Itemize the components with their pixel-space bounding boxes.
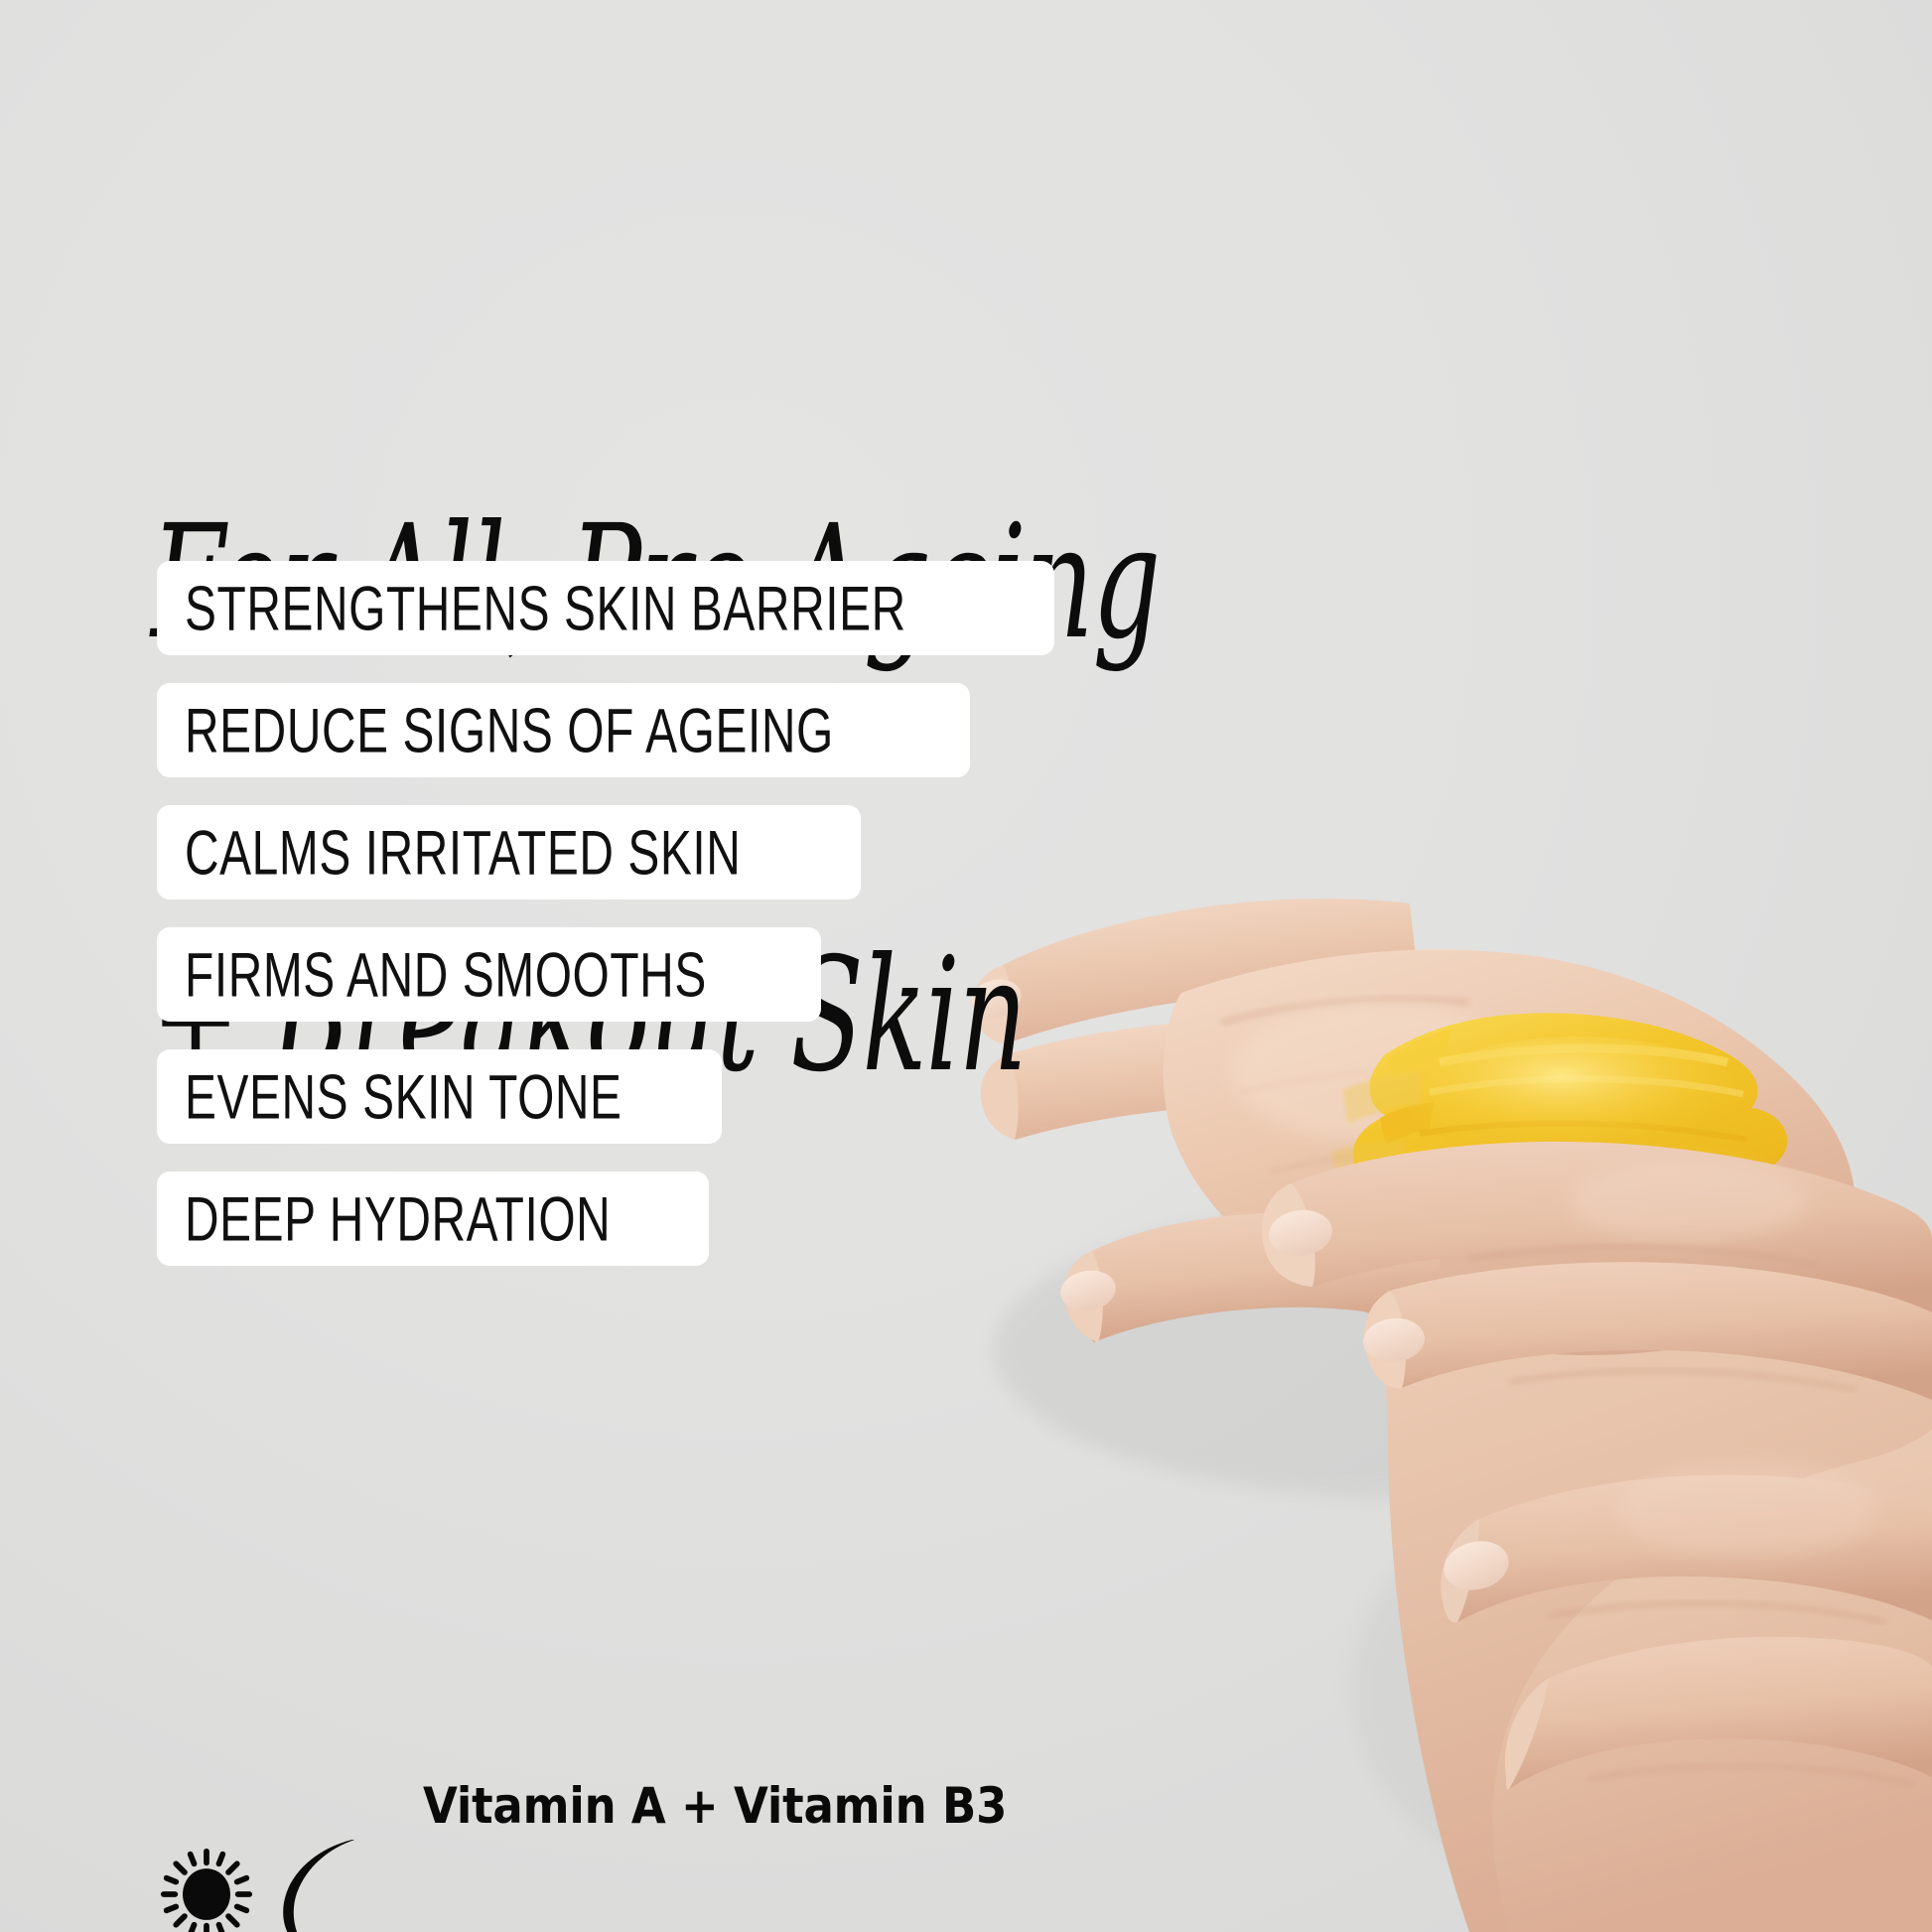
benefits-list: STRENGTHENS SKIN BARRIER REDUCE SIGNS OF… xyxy=(157,561,1054,1266)
right-hand xyxy=(1262,1142,1932,1932)
benefit-pill-reduce-signs-of-ageing: REDUCE SIGNS OF AGEING xyxy=(157,683,970,777)
sun-icon xyxy=(159,1847,254,1932)
product-balm-swatch xyxy=(1330,1013,1787,1250)
benefit-label: DEEP HYDRATION xyxy=(185,1187,611,1250)
benefit-label: EVENS SKIN TONE xyxy=(185,1065,622,1128)
benefit-pill-firms-and-smooths: FIRMS AND SMOOTHS xyxy=(157,927,821,1022)
benefit-label: CALMS IRRITATED SKIN xyxy=(185,821,741,884)
ingredients-line-1: Vitamin A + Vitamin B3 xyxy=(423,1777,1007,1836)
ingredients-text: Vitamin A + Vitamin B3 + Magnesium & CBD xyxy=(423,1660,1007,1932)
benefit-pill-evens-skin-tone: EVENS SKIN TONE xyxy=(157,1049,722,1144)
moon-icon xyxy=(280,1840,375,1932)
product-marketing-card: For All, Pro-Ageing + Breakout Skin STRE… xyxy=(0,0,1932,1932)
benefit-pill-strengthens-skin-barrier: STRENGTHENS SKIN BARRIER xyxy=(157,561,1054,655)
benefit-pill-calms-irritated-skin: CALMS IRRITATED SKIN xyxy=(157,805,861,899)
benefit-label: REDUCE SIGNS OF AGEING xyxy=(185,699,834,761)
benefit-pill-deep-hydration: DEEP HYDRATION xyxy=(157,1172,709,1266)
usage-and-ingredients: Vitamin A + Vitamin B3 + Magnesium & CBD xyxy=(159,1660,1072,1932)
benefit-label: STRENGTHENS SKIN BARRIER xyxy=(185,577,906,639)
benefit-label: FIRMS AND SMOOTHS xyxy=(185,943,707,1006)
